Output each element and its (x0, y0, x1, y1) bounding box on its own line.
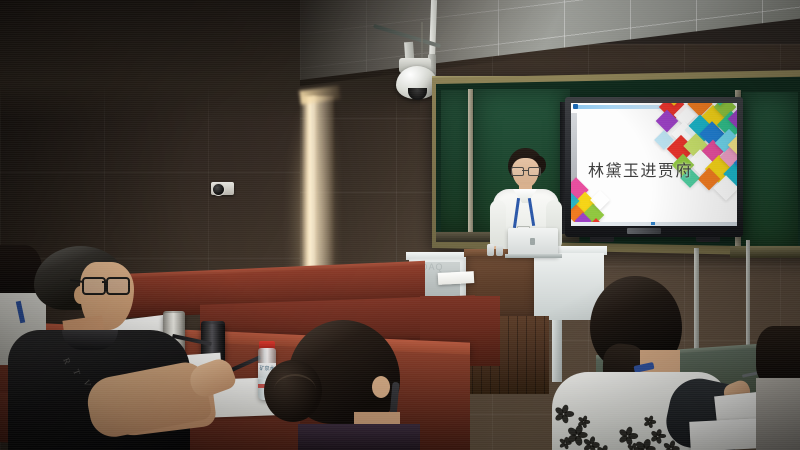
camera-cable (421, 22, 423, 62)
woman-center-observer (262, 320, 420, 450)
floral-motif (578, 416, 590, 428)
display-foot-right (696, 237, 720, 242)
floral-motif (626, 442, 640, 450)
floral-motif (596, 444, 612, 450)
glasses-lens-right (106, 277, 130, 295)
chalk-tray-right (730, 246, 800, 258)
presentation-screen[interactable]: 林黛玉进贾府 (571, 103, 737, 226)
microphone-icon-1[interactable] (487, 244, 494, 256)
microphone-icon-2[interactable] (496, 245, 503, 256)
laptop-logo-icon (530, 238, 535, 245)
classroom-scene: 林黛玉进贾府 DAQ (0, 0, 800, 450)
person-far-right-hair (756, 326, 800, 386)
chalkboard-panel-left (441, 90, 469, 235)
eyeglasses-icon (511, 167, 540, 174)
laptop-hinge (505, 254, 562, 258)
floral-motif (644, 416, 656, 428)
tshirt-print-glyph: R (61, 356, 72, 365)
tshirt-print-glyph: T (71, 368, 82, 377)
floral-motif (558, 436, 572, 450)
person-far-right (756, 326, 800, 450)
paper-sheet (438, 271, 475, 285)
woman-center-top (298, 424, 420, 450)
display-foot-left (590, 237, 614, 242)
person-far-right-body (756, 378, 800, 450)
glasses-lens-right (528, 167, 541, 176)
chalkboard-panel-right (742, 92, 798, 250)
wall-sensor-icon (211, 182, 234, 195)
floral-motif (554, 404, 574, 424)
slide-title: 林黛玉进贾府 (588, 157, 693, 181)
glasses-lens-left (511, 167, 524, 176)
tshirt-print-glyph: V (81, 378, 93, 388)
chalkboard-divider-left (468, 89, 473, 235)
wall-rail-right (746, 240, 750, 352)
slide-toolbar-dot-icon[interactable] (573, 104, 578, 109)
glasses-lens-left (82, 277, 106, 295)
display-brand-logo (627, 228, 661, 234)
eyeglasses-icon (82, 277, 128, 292)
glasses-bridge (522, 170, 528, 171)
hair-strand (274, 374, 316, 406)
glasses-bridge (102, 281, 107, 283)
slide-status-dot-icon (651, 222, 655, 225)
sensor-lens-icon (212, 183, 225, 196)
woman-center-ear (372, 376, 390, 398)
teacher-arm-left (490, 200, 506, 250)
paper-sheet (689, 418, 760, 450)
